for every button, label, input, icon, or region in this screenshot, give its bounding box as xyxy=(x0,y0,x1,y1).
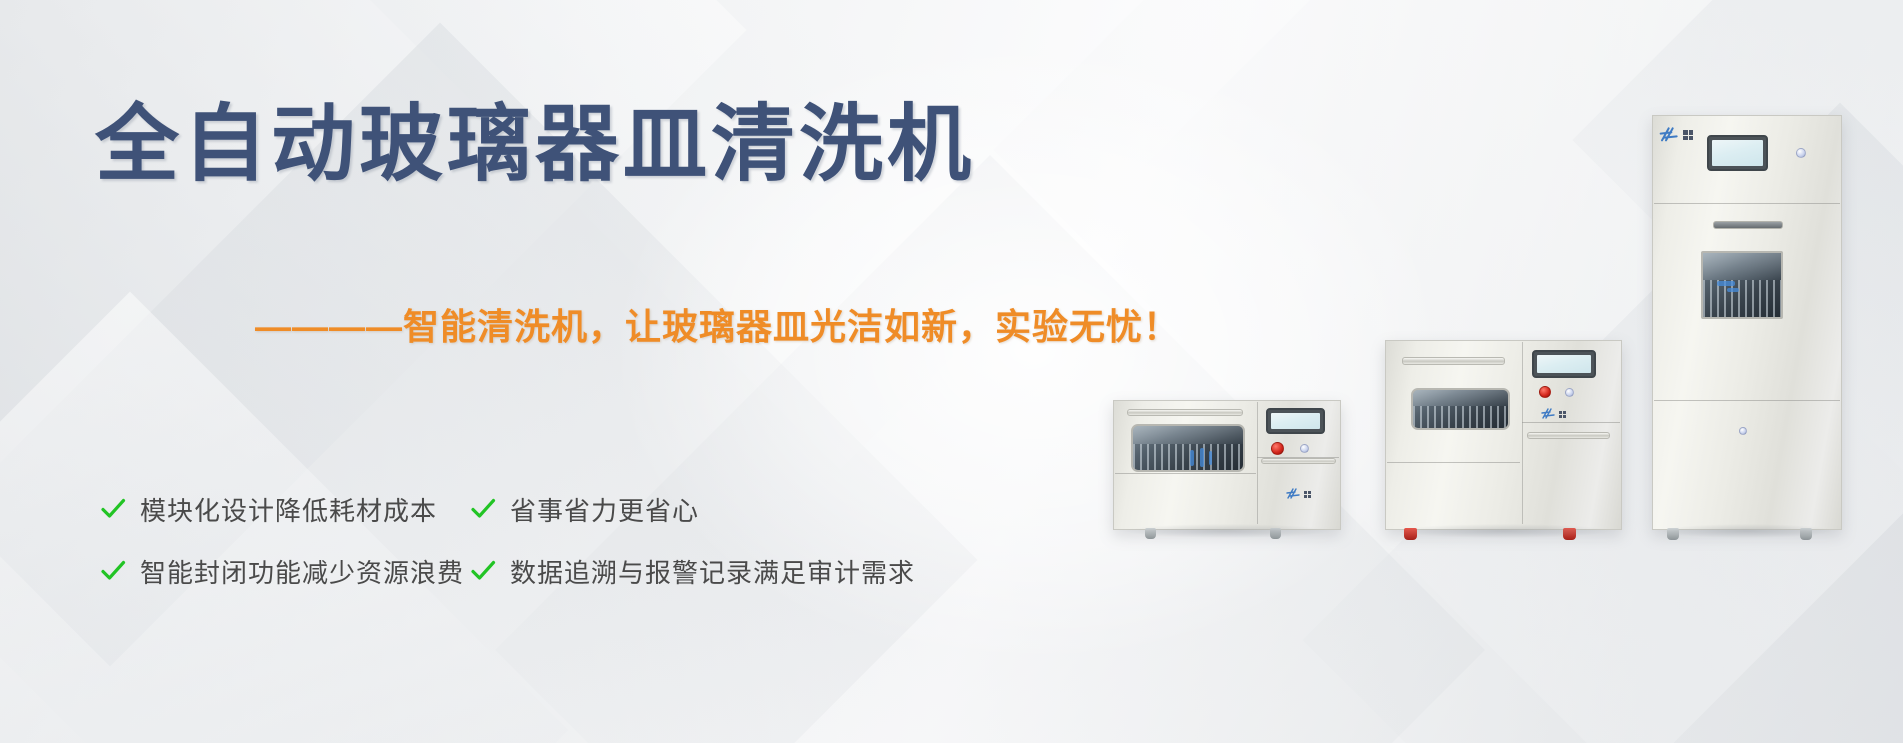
power-button[interactable] xyxy=(1300,444,1309,453)
glassware-rack xyxy=(1133,444,1242,470)
machine-panel-seam xyxy=(1654,203,1840,204)
brand-logo xyxy=(1659,127,1693,143)
machine-panel-seam xyxy=(1522,342,1523,524)
check-icon xyxy=(100,558,126,584)
feature-item: 模块化设计降低耗材成本 xyxy=(100,491,470,528)
feature-label: 智能封闭功能减少资源浪费 xyxy=(140,553,464,590)
feature-row: 智能封闭功能减少资源浪费 数据追溯与报警记录满足审计需求 xyxy=(100,540,1000,602)
logo-squares xyxy=(1683,130,1693,140)
feature-item: 省事省力更省心 xyxy=(470,491,970,528)
door-handle[interactable] xyxy=(1127,409,1243,416)
emergency-stop-button[interactable] xyxy=(1539,386,1551,398)
feature-label: 省事省力更省心 xyxy=(510,491,699,528)
banner-headline: 全自动玻璃器皿清洗机 xyxy=(95,98,975,190)
product-image-tall-column-washer xyxy=(1652,115,1842,530)
window-glare xyxy=(1133,426,1242,444)
machine-panel-seam xyxy=(1115,473,1256,474)
glassware-rack xyxy=(1413,406,1508,428)
machine-body xyxy=(1652,115,1842,530)
machine-panel-seam xyxy=(1387,462,1520,463)
door-handle[interactable] xyxy=(1402,357,1506,365)
floor-shadow xyxy=(1127,524,1328,538)
feature-label: 模块化设计降低耗材成本 xyxy=(140,491,437,528)
logo-squares xyxy=(1559,411,1566,418)
door-handle[interactable] xyxy=(1713,221,1783,229)
feature-item: 智能封闭功能减少资源浪费 xyxy=(100,553,470,590)
product-hero-banner: 全自动玻璃器皿清洗机 ————智能清洗机，让玻璃器皿光洁如新，实验无忧！ 模块化… xyxy=(0,0,1903,743)
blue-glassware xyxy=(1200,448,1204,467)
machine-panel-seam xyxy=(1654,400,1840,401)
check-icon xyxy=(470,496,496,522)
feature-item: 数据追溯与报警记录满足审计需求 xyxy=(470,553,970,590)
check-icon xyxy=(470,558,496,584)
brand-logo xyxy=(1286,488,1311,500)
lower-door-handle[interactable] xyxy=(1527,432,1610,439)
check-icon xyxy=(100,496,126,522)
banner-subheadline: ————智能清洗机，让玻璃器皿光洁如新，实验无忧！ xyxy=(255,298,1180,350)
screen-display xyxy=(1712,140,1763,166)
brand-logo xyxy=(1541,408,1566,420)
control-touchscreen[interactable] xyxy=(1707,135,1768,171)
blue-glassware xyxy=(1190,450,1194,466)
product-image-undercounter-washer xyxy=(1113,400,1341,530)
screen-display xyxy=(1271,413,1320,429)
blue-glassware xyxy=(1727,288,1739,292)
banner-text-content: 全自动玻璃器皿清洗机 ————智能清洗机，让玻璃器皿光洁如新，实验无忧！ 模块化… xyxy=(0,0,1100,743)
logo-squares xyxy=(1304,491,1311,498)
window-glare xyxy=(1413,390,1508,406)
lower-door-handle[interactable] xyxy=(1261,458,1336,464)
feature-label: 数据追溯与报警记录满足审计需求 xyxy=(510,553,915,590)
machine-panel-seam xyxy=(1522,422,1620,423)
feature-list: 模块化设计降低耗材成本 省事省力更省心 xyxy=(100,478,1000,602)
feature-row: 模块化设计降低耗材成本 省事省力更省心 xyxy=(100,478,1000,540)
machine-panel-seam xyxy=(1257,402,1258,524)
product-image-freestanding-washer xyxy=(1385,340,1622,530)
window-glare xyxy=(1703,253,1781,280)
screen-display xyxy=(1537,355,1591,373)
blue-glassware xyxy=(1209,451,1212,465)
glassware-rack xyxy=(1703,280,1781,317)
chamber-viewing-window xyxy=(1131,424,1244,472)
control-touchscreen[interactable] xyxy=(1532,350,1596,378)
chamber-viewing-window xyxy=(1411,388,1510,430)
floor-shadow xyxy=(1663,524,1830,538)
blue-glassware xyxy=(1717,281,1734,286)
floor-shadow xyxy=(1399,524,1608,538)
chamber-viewing-window xyxy=(1701,251,1783,319)
control-touchscreen[interactable] xyxy=(1266,408,1325,434)
